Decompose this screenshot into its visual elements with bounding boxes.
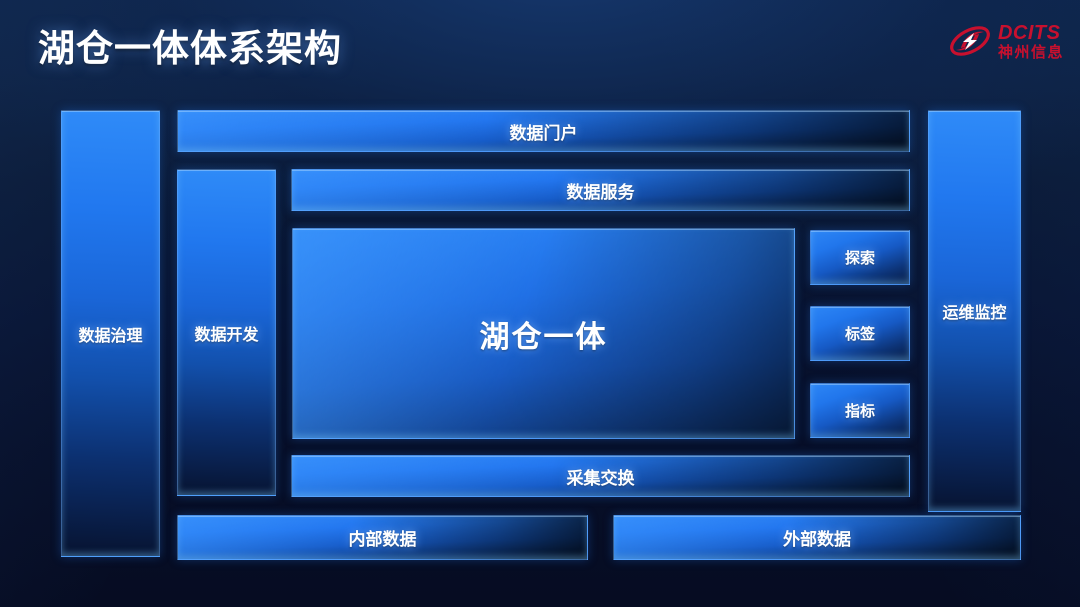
logo-cn-text: 神州信息 xyxy=(998,45,1064,60)
block-data-governance-label: 数据治理 xyxy=(78,322,142,346)
block-metrics-label: 指标 xyxy=(845,400,875,421)
block-data-governance[interactable]: 数据治理 xyxy=(61,110,160,557)
block-internal-data-label: 内部数据 xyxy=(349,525,417,550)
brand-logo: DCITS 神州信息 xyxy=(948,16,1064,66)
block-collect-exchange[interactable]: 采集交换 xyxy=(291,455,910,497)
dcits-swirl-icon xyxy=(948,21,992,61)
block-internal-data[interactable]: 内部数据 xyxy=(177,515,588,560)
logo-en-text: DCITS xyxy=(998,23,1064,43)
block-metrics[interactable]: 指标 xyxy=(810,383,910,438)
block-data-development[interactable]: 数据开发 xyxy=(177,169,276,496)
block-data-service[interactable]: 数据服务 xyxy=(291,169,910,211)
slide-canvas: 湖仓一体体系架构 DCITS 神州信息 数据治理 数据门户 数据开发 数据服务 … xyxy=(0,0,1080,607)
block-lakehouse-label: 湖仓一体 xyxy=(480,312,608,356)
block-data-portal-label: 数据门户 xyxy=(510,119,578,144)
block-collect-exchange-label: 采集交换 xyxy=(567,464,635,489)
page-title: 湖仓一体体系架构 xyxy=(38,26,342,72)
block-explore[interactable]: 探索 xyxy=(810,230,910,285)
block-tags-label: 标签 xyxy=(845,323,875,344)
block-ops-monitoring-label: 运维监控 xyxy=(942,299,1006,323)
block-tags[interactable]: 标签 xyxy=(810,306,910,361)
block-lakehouse[interactable]: 湖仓一体 xyxy=(292,228,795,439)
block-data-development-label: 数据开发 xyxy=(194,321,258,345)
block-external-data[interactable]: 外部数据 xyxy=(613,515,1021,560)
block-external-data-label: 外部数据 xyxy=(783,525,851,550)
block-data-service-label: 数据服务 xyxy=(567,178,635,203)
block-data-portal[interactable]: 数据门户 xyxy=(177,110,910,152)
block-explore-label: 探索 xyxy=(845,247,875,268)
block-ops-monitoring[interactable]: 运维监控 xyxy=(928,110,1021,512)
